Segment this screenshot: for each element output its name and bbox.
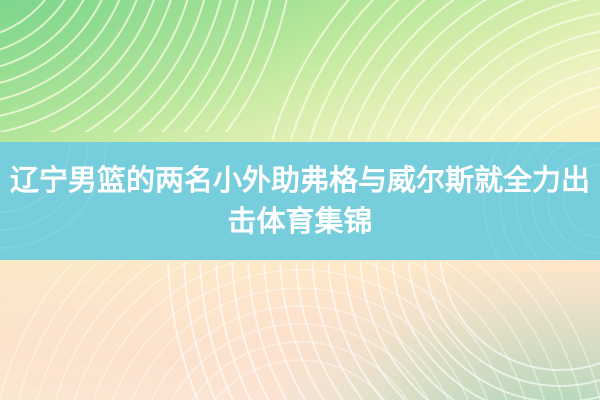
- background-corner-green-bottom-right: [288, 272, 600, 400]
- banner-canvas: 辽宁男篮的两名小外助弗格与威尔斯就全力出击体育集锦: [0, 0, 600, 400]
- headline-band: 辽宁男篮的两名小外助弗格与威尔斯就全力出击体育集锦: [0, 142, 600, 260]
- headline-text: 辽宁男篮的两名小外助弗格与威尔斯就全力出击体育集锦: [0, 160, 600, 242]
- background-corner-green-top-left: [0, 0, 312, 152]
